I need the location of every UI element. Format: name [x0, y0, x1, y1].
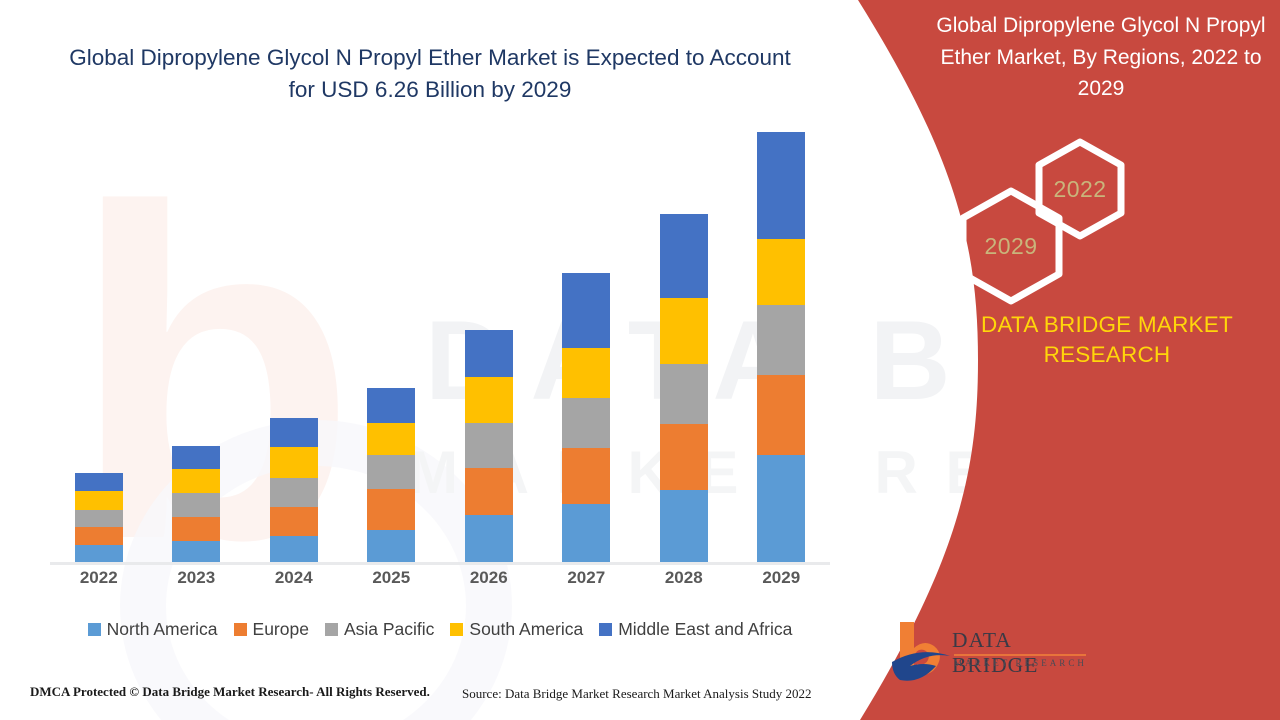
legend-swatch-icon [325, 623, 338, 636]
bar-segment-2027-asia-pacific [562, 398, 610, 448]
legend-item-north-america[interactable]: North America [88, 619, 218, 640]
legend-item-middle-east-and-africa[interactable]: Middle East and Africa [599, 619, 792, 640]
x-axis-label-2025: 2025 [351, 568, 431, 588]
bar-segment-2022-asia-pacific [75, 510, 123, 527]
legend-swatch-icon [599, 623, 612, 636]
copyright-text: DMCA Protected © Data Bridge Market Rese… [30, 684, 430, 700]
bar-segment-2024-middle-east-and-africa [270, 418, 318, 447]
legend-label: Europe [253, 619, 309, 640]
bar-group-2027 [562, 273, 610, 562]
bar-group-2025 [367, 388, 415, 562]
bar-group-2023 [172, 446, 220, 562]
chart-legend: North AmericaEuropeAsia PacificSouth Ame… [50, 616, 830, 642]
logo-title: DATA BRIDGE [952, 628, 1100, 678]
brand-name: DATA BRIDGE MARKET RESEARCH [962, 310, 1252, 371]
bar-segment-2026-europe [465, 468, 513, 515]
panel-title: Global Dipropylene Glycol N Propyl Ether… [932, 10, 1270, 105]
bar-segment-2025-north-america [367, 530, 415, 562]
bar-segment-2022-europe [75, 527, 123, 544]
bar-segment-2022-north-america [75, 545, 123, 562]
bar-segment-2023-south-america [172, 469, 220, 493]
bar-segment-2025-south-america [367, 423, 415, 455]
bar-segment-2025-asia-pacific [367, 455, 415, 489]
bar-segment-2024-north-america [270, 536, 318, 562]
bar-segment-2027-north-america [562, 504, 610, 562]
logo-divider [954, 654, 1086, 656]
company-logo: DATA BRIDGE MARKET RESEARCH [890, 618, 1100, 690]
legend-label: South America [469, 619, 583, 640]
legend-item-south-america[interactable]: South America [450, 619, 583, 640]
legend-label: North America [107, 619, 218, 640]
bar-segment-2023-north-america [172, 541, 220, 562]
bar-group-2022 [75, 473, 123, 562]
x-axis-label-2026: 2026 [449, 568, 529, 588]
bar-segment-2029-asia-pacific [757, 305, 805, 375]
x-axis-label-2029: 2029 [741, 568, 821, 588]
bar-segment-2027-europe [562, 448, 610, 504]
bar-segment-2023-middle-east-and-africa [172, 446, 220, 470]
x-axis-label-2022: 2022 [59, 568, 139, 588]
legend-swatch-icon [450, 623, 463, 636]
chart-baseline [50, 562, 830, 565]
x-axis-label-2024: 2024 [254, 568, 334, 588]
legend-item-asia-pacific[interactable]: Asia Pacific [325, 619, 434, 640]
bar-group-2026 [465, 330, 513, 562]
page-title: Global Dipropylene Glycol N Propyl Ether… [60, 42, 800, 106]
chart-x-axis-labels: 20222023202420252026202720282029 [50, 568, 830, 598]
hex-badge-2029-label: 2029 [956, 186, 1066, 306]
bar-segment-2029-middle-east-and-africa [757, 132, 805, 239]
logo-subtitle: MARKET RESEARCH [954, 658, 1087, 668]
bar-segment-2029-south-america [757, 239, 805, 305]
bar-segment-2026-asia-pacific [465, 423, 513, 468]
legend-swatch-icon [234, 623, 247, 636]
bar-segment-2024-asia-pacific [270, 478, 318, 507]
bar-segment-2027-south-america [562, 348, 610, 398]
bar-segment-2029-north-america [757, 455, 805, 562]
legend-item-europe[interactable]: Europe [234, 619, 309, 640]
bar-segment-2024-europe [270, 507, 318, 536]
bar-segment-2022-middle-east-and-africa [75, 473, 123, 490]
hex-badge-2029: 2029 [956, 186, 1066, 306]
bar-segment-2026-south-america [465, 377, 513, 423]
legend-swatch-icon [88, 623, 101, 636]
bar-segment-2023-asia-pacific [172, 493, 220, 517]
bar-segment-2028-middle-east-and-africa [660, 214, 708, 298]
bar-segment-2022-south-america [75, 491, 123, 510]
chart-plot-area [50, 150, 830, 565]
bar-group-2029 [757, 132, 805, 562]
source-text: Source: Data Bridge Market Research Mark… [462, 686, 811, 702]
x-axis-label-2028: 2028 [644, 568, 724, 588]
bar-segment-2028-north-america [660, 490, 708, 562]
bar-segment-2026-middle-east-and-africa [465, 330, 513, 376]
bar-segment-2024-south-america [270, 447, 318, 478]
bar-segment-2023-europe [172, 517, 220, 541]
bar-segment-2028-europe [660, 424, 708, 490]
stacked-bar-chart [50, 150, 830, 565]
bar-segment-2026-north-america [465, 515, 513, 562]
legend-label: Middle East and Africa [618, 619, 792, 640]
bar-group-2024 [270, 418, 318, 562]
bar-segment-2025-europe [367, 489, 415, 530]
bar-segment-2028-asia-pacific [660, 364, 708, 423]
bar-group-2028 [660, 214, 708, 562]
bar-segment-2025-middle-east-and-africa [367, 388, 415, 423]
bar-segment-2028-south-america [660, 298, 708, 364]
bar-segment-2027-middle-east-and-africa [562, 273, 610, 348]
infographic-canvas: b DATA BRIDGE MARKET RESEARCH Global Dip… [0, 0, 1280, 720]
bar-segment-2029-europe [757, 375, 805, 455]
x-axis-label-2023: 2023 [156, 568, 236, 588]
legend-label: Asia Pacific [344, 619, 434, 640]
logo-mark-icon [890, 618, 952, 684]
x-axis-label-2027: 2027 [546, 568, 626, 588]
